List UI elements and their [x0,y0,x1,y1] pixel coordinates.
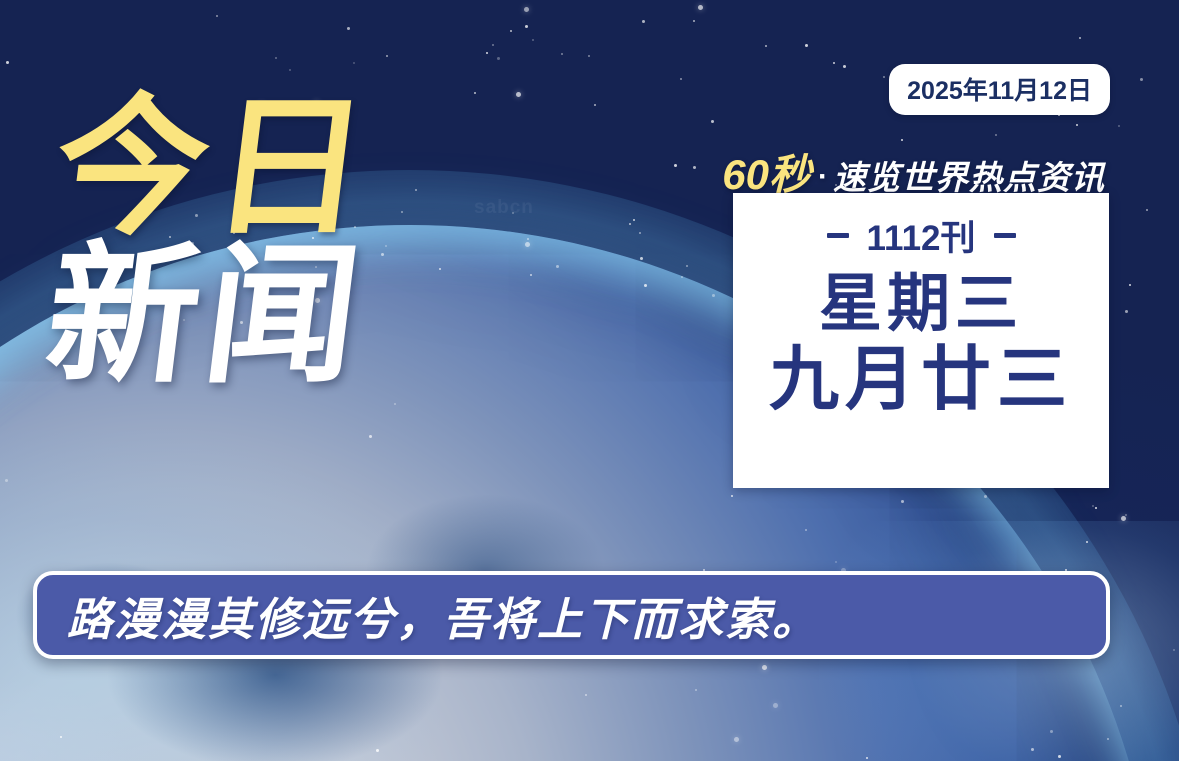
lunar-date-label: 九月廿三 [769,343,1073,417]
star-dot [497,57,500,60]
weekday-label: 星期三 [819,271,1023,337]
star-dot [833,62,835,64]
star-dot [5,479,8,482]
star-dot [1031,748,1034,751]
star-dot [216,15,218,17]
star-dot [674,164,677,167]
star-dot [995,134,997,136]
star-dot [681,276,683,278]
star-dot [711,120,714,123]
star-dot [1140,78,1143,81]
star-dot [60,736,62,738]
star-dot [510,30,512,32]
star-dot [1118,125,1120,127]
star-dot [347,27,350,30]
star-dot [439,268,441,270]
star-dot [901,500,904,503]
star-dot [386,55,388,57]
star-dot [698,5,703,10]
star-dot [588,55,590,57]
star-dot [525,242,530,247]
star-dot [415,189,417,191]
tagline-description: 速览世界热点资讯 [833,151,1105,199]
star-dot [835,561,837,563]
star-dot [712,294,715,297]
star-dot [984,495,987,498]
dash-left-icon [827,233,849,238]
star-dot [524,7,529,12]
star-dot [639,232,641,234]
star-dot [680,78,682,80]
star-dot [1173,649,1175,651]
star-dot [1076,124,1078,126]
star-dot [353,62,355,64]
headline-block: 今日 新闻 [48,96,372,389]
star-dot [762,665,767,670]
star-dot [6,61,9,64]
star-dot [394,403,396,405]
star-dot [492,44,494,46]
star-dot [530,274,532,276]
star-dot [585,694,587,696]
star-dot [369,435,372,438]
star-dot [644,284,647,287]
star-dot [1092,505,1094,507]
star-dot [381,253,384,256]
star-dot [1107,738,1109,740]
star-dot [734,737,739,742]
quote-text: 路漫漫其修远兮，吾将上下而求索。 [37,583,819,648]
star-dot [731,495,733,497]
star-dot [883,76,885,78]
star-dot [642,20,645,23]
star-dot [1146,209,1148,211]
date-info-card: 1112刊 星期三 九月廿三 [733,193,1109,488]
dash-right-icon [994,233,1016,238]
headline-line-news: 新闻 [39,244,381,388]
star-dot [843,65,846,68]
star-dot [1086,541,1088,543]
star-dot [385,245,387,247]
star-dot [866,757,868,759]
star-dot [773,703,778,708]
star-dot [532,39,534,41]
star-dot [376,749,379,752]
star-dot [695,689,697,691]
star-dot [1125,514,1127,516]
date-badge: 2025年11月12日 [889,64,1110,115]
star-dot [693,20,695,22]
headline-line-today: 今日 [47,96,381,240]
star-dot [805,44,808,47]
issue-number: 1112刊 [867,210,976,261]
star-dot [561,53,563,55]
star-dot [1129,284,1131,286]
star-dot [629,223,631,225]
star-dot [275,57,277,59]
issue-row: 1112刊 [827,210,1016,261]
star-dot [1095,507,1097,509]
star-dot [1079,37,1081,39]
quote-bar: 路漫漫其修远兮，吾将上下而求索。 [33,571,1110,659]
star-dot [1058,755,1061,758]
star-dot [640,257,643,260]
star-dot [525,25,528,28]
star-dot [1121,516,1126,521]
star-dot [1125,310,1128,313]
watermark-text: sabcn [474,197,534,219]
star-dot [686,265,688,267]
star-dot [1120,705,1122,707]
news-banner-canvas: sabcn 今日 新闻 2025年11月12日 60秒 · 速览世界热点资讯 1… [0,0,1179,761]
star-dot [594,104,596,106]
star-dot [765,45,767,47]
star-dot [556,265,559,268]
star-dot [693,166,696,169]
star-dot [1050,730,1053,733]
star-dot [527,238,529,240]
tagline-separator-dot: · [811,160,833,194]
star-dot [289,69,291,71]
star-dot [805,529,807,531]
star-dot [516,92,521,97]
star-dot [401,211,403,213]
star-dot [486,52,488,54]
star-dot [633,219,635,221]
star-dot [474,92,476,94]
